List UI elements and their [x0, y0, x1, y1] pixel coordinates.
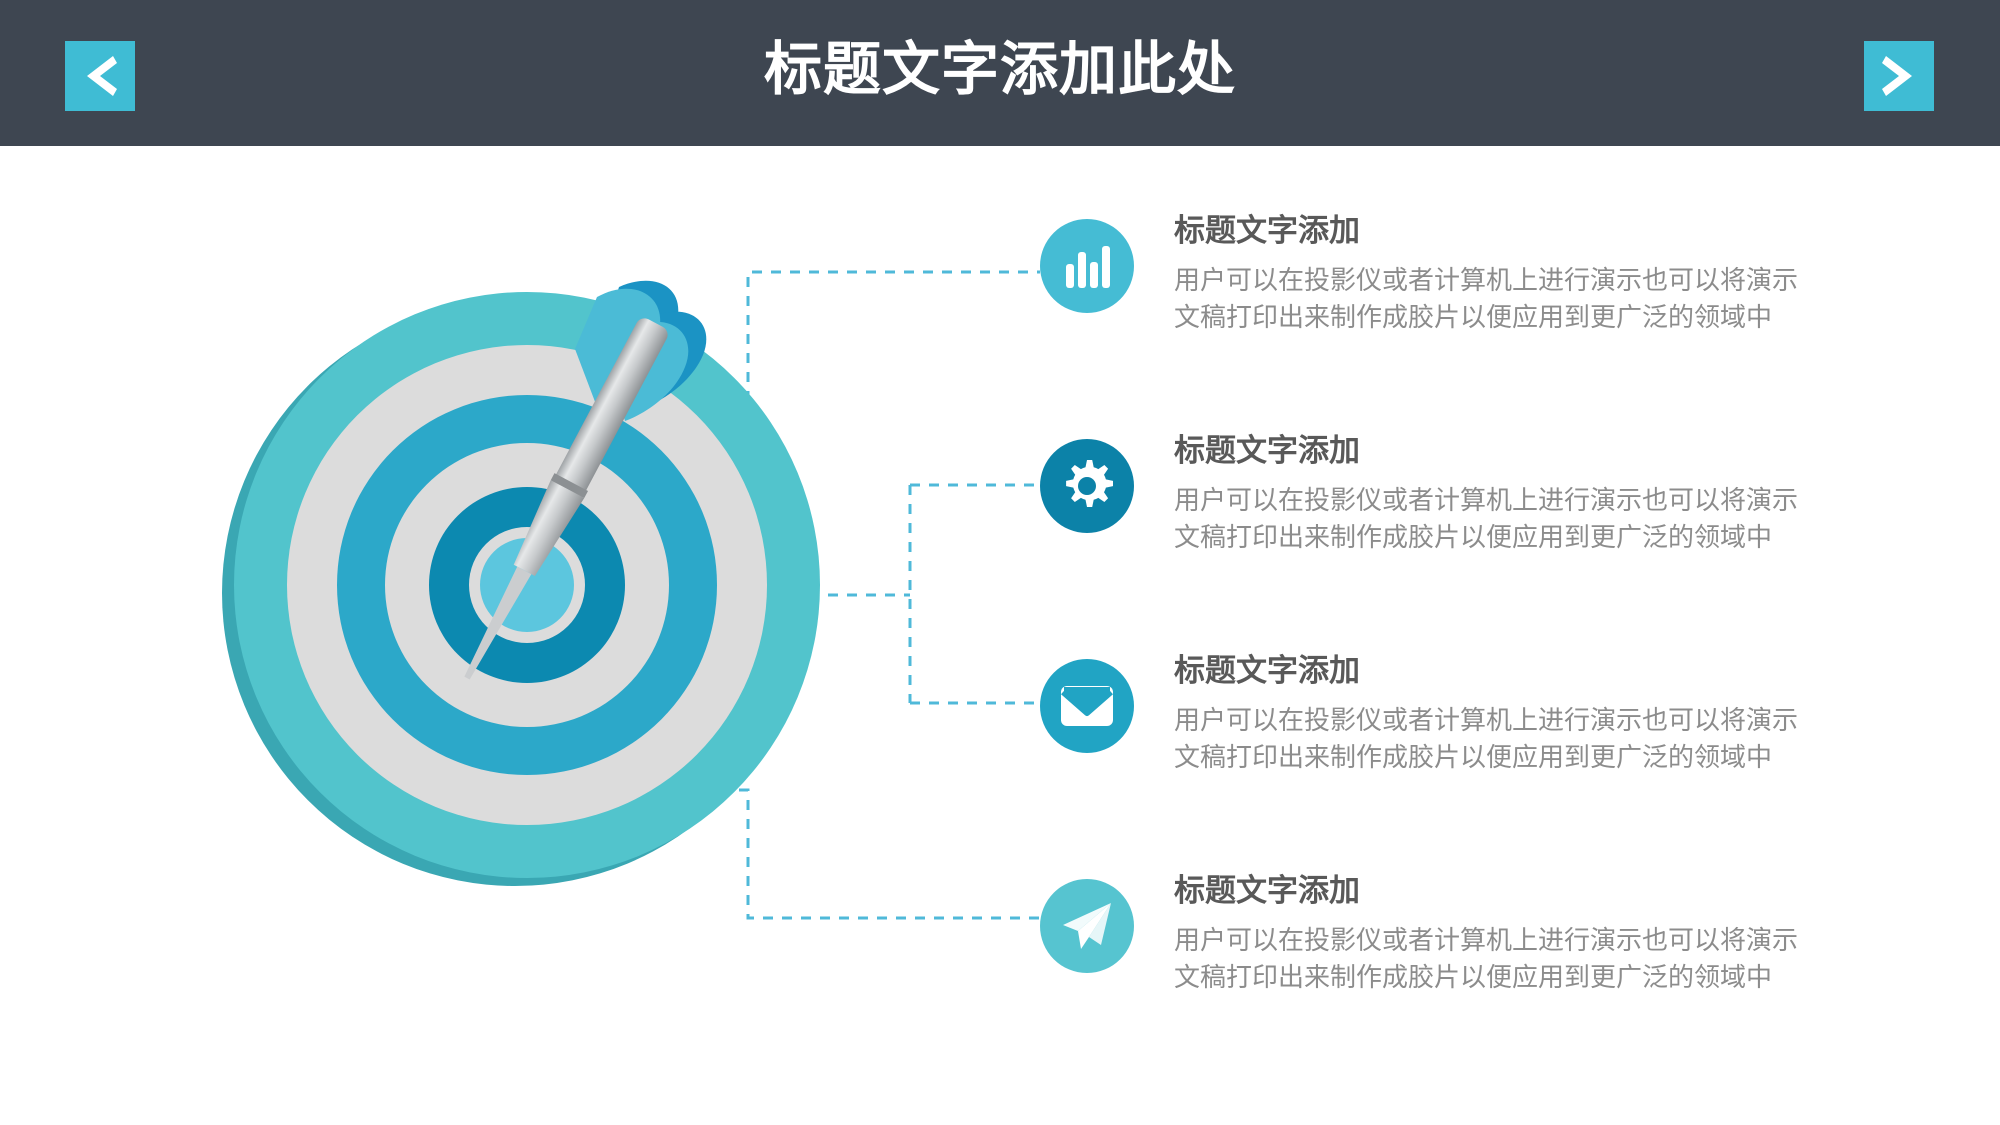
gear-icon — [1040, 439, 1134, 533]
list-item-title: 标题文字添加 — [1174, 212, 1804, 251]
envelope-icon — [1040, 659, 1134, 753]
list-item-title: 标题文字添加 — [1174, 872, 1804, 911]
list-item-description: 用户可以在投影仪或者计算机上进行演示也可以将演示文稿打印出来制作成胶片以便应用到… — [1174, 702, 1804, 777]
list-item[interactable]: 标题文字添加 用户可以在投影仪或者计算机上进行演示也可以将演示文稿打印出来制作成… — [1040, 870, 1910, 1090]
chevron-left-icon — [83, 54, 117, 98]
list-item-text: 标题文字添加 用户可以在投影仪或者计算机上进行演示也可以将演示文稿打印出来制作成… — [1174, 870, 1804, 997]
list-item-text: 标题文字添加 用户可以在投影仪或者计算机上进行演示也可以将演示文稿打印出来制作成… — [1174, 430, 1804, 557]
bar-chart-icon — [1040, 219, 1134, 313]
list-item[interactable]: 标题文字添加 用户可以在投影仪或者计算机上进行演示也可以将演示文稿打印出来制作成… — [1040, 430, 1910, 650]
chevron-right-icon — [1882, 54, 1916, 98]
list-item-title: 标题文字添加 — [1174, 652, 1804, 691]
next-slide-button[interactable] — [1864, 41, 1934, 111]
page-title: 标题文字添加此处 — [0, 0, 2000, 146]
list-item-description: 用户可以在投影仪或者计算机上进行演示也可以将演示文稿打印出来制作成胶片以便应用到… — [1174, 262, 1804, 337]
list-item-description: 用户可以在投影仪或者计算机上进行演示也可以将演示文稿打印出来制作成胶片以便应用到… — [1174, 482, 1804, 557]
paper-plane-icon — [1040, 879, 1134, 973]
list-item-text: 标题文字添加 用户可以在投影仪或者计算机上进行演示也可以将演示文稿打印出来制作成… — [1174, 650, 1804, 777]
feature-list: 标题文字添加 用户可以在投影仪或者计算机上进行演示也可以将演示文稿打印出来制作成… — [1040, 210, 1910, 1090]
list-item[interactable]: 标题文字添加 用户可以在投影仪或者计算机上进行演示也可以将演示文稿打印出来制作成… — [1040, 650, 1910, 870]
dartboard-illustration — [215, 275, 835, 895]
list-item-text: 标题文字添加 用户可以在投影仪或者计算机上进行演示也可以将演示文稿打印出来制作成… — [1174, 210, 1804, 337]
list-item-description: 用户可以在投影仪或者计算机上进行演示也可以将演示文稿打印出来制作成胶片以便应用到… — [1174, 922, 1804, 997]
previous-slide-button[interactable] — [65, 41, 135, 111]
list-item-title: 标题文字添加 — [1174, 432, 1804, 471]
list-item[interactable]: 标题文字添加 用户可以在投影仪或者计算机上进行演示也可以将演示文稿打印出来制作成… — [1040, 210, 1910, 430]
